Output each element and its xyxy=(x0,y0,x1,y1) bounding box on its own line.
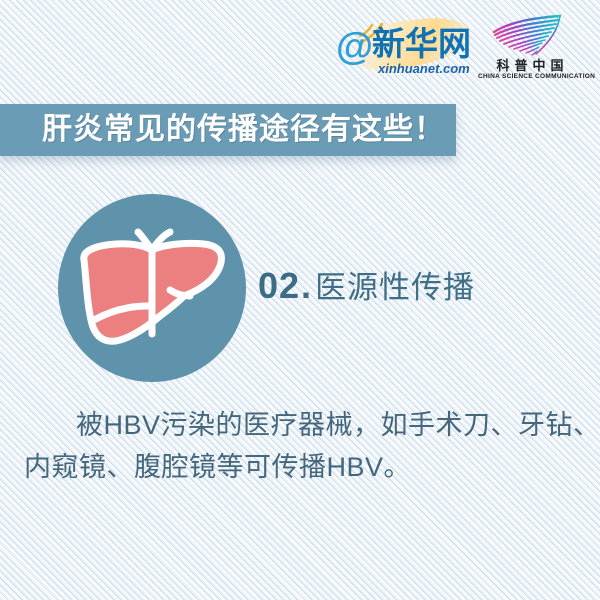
page-title: 肝炎常见的传播途径有这些！ xyxy=(42,114,445,146)
xinhua-url: xinhuanet.com xyxy=(378,62,470,76)
body-line-1: 被HBV污染的医疗器械，如手术刀、牙钻、 xyxy=(24,404,580,446)
body-line-2: 内窥镜、腹腔镜等可传播HBV。 xyxy=(24,446,580,488)
body-copy: 被HBV污染的医疗器械，如手术刀、牙钻、 内窥镜、腹腔镜等可传播HBV。 xyxy=(24,404,580,488)
section-separator: . xyxy=(301,266,311,306)
header-logo-bar: @ 新华网 xinhuanet.com xyxy=(0,0,600,96)
kepu-name-en: CHINA SCIENCE COMMUNICATION xyxy=(478,73,582,81)
liver-icon xyxy=(72,224,232,352)
section-heading: 02 . 医源性传播 xyxy=(258,266,475,314)
section-label: 医源性传播 xyxy=(315,268,475,308)
infographic-poster: @ 新华网 xinhuanet.com xyxy=(0,0,600,600)
kepu-feather-mark-icon xyxy=(488,14,574,58)
liver-icon-badge xyxy=(58,194,246,382)
xinhuanet-logo[interactable]: @ 新华网 xinhuanet.com xyxy=(336,22,470,80)
kepu-name-cn: 科普中国 xyxy=(478,58,582,73)
section-number: 02 xyxy=(258,266,300,306)
kepu-china-logo[interactable]: 科普中国 CHINA SCIENCE COMMUNICATION xyxy=(478,14,582,86)
xinhua-name-cn: 新华网 xyxy=(372,26,471,62)
title-banner: 肝炎常见的传播途径有这些！ xyxy=(0,104,456,156)
xinhua-at-symbol: @ xyxy=(336,28,373,66)
